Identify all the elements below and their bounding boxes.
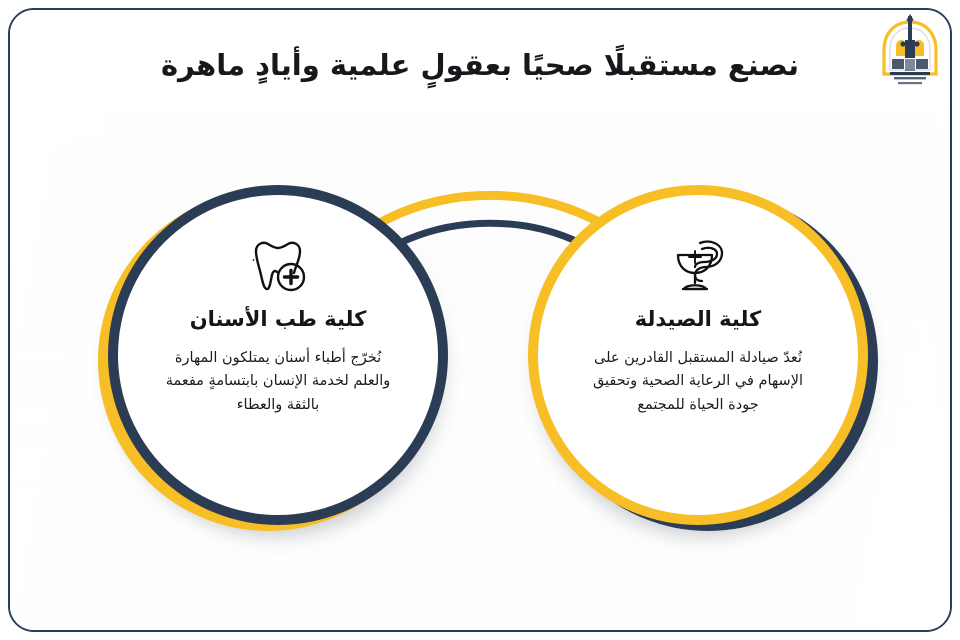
bowl-of-hygieia-icon (670, 237, 726, 297)
college-title-pharmacy: كلية الصيدلة (635, 307, 762, 331)
tooth-medical-cross-icon (246, 239, 310, 297)
university-emblem (874, 12, 946, 94)
college-card-pharmacy[interactable]: كلية الصيدلة نُعدّ صيادلة المستقبل القاد… (528, 185, 878, 535)
circle-content-pharmacy: كلية الصيدلة نُعدّ صيادلة المستقبل القاد… (538, 195, 858, 515)
college-card-dentistry[interactable]: كلية طب الأسنان نُخرّج أطباء أسنان يمتلك… (98, 185, 448, 535)
infographic-canvas: كلية طب الأسنان نُخرّج أطباء أسنان يمتلك… (0, 0, 960, 640)
college-description-dentistry: نُخرّج أطباء أسنان يمتلكون المهارة والعل… (163, 347, 393, 417)
card-frame: كلية طب الأسنان نُخرّج أطباء أسنان يمتلك… (8, 8, 952, 632)
circle-content-dentistry: كلية طب الأسنان نُخرّج أطباء أسنان يمتلك… (118, 195, 438, 515)
college-title-dentistry: كلية طب الأسنان (190, 307, 367, 331)
college-description-pharmacy: نُعدّ صيادلة المستقبل القادرين على الإسه… (583, 347, 813, 417)
page-title: نصنع مستقبلًا صحيًا بعقولٍ علمية وأيادٍ … (0, 47, 960, 83)
